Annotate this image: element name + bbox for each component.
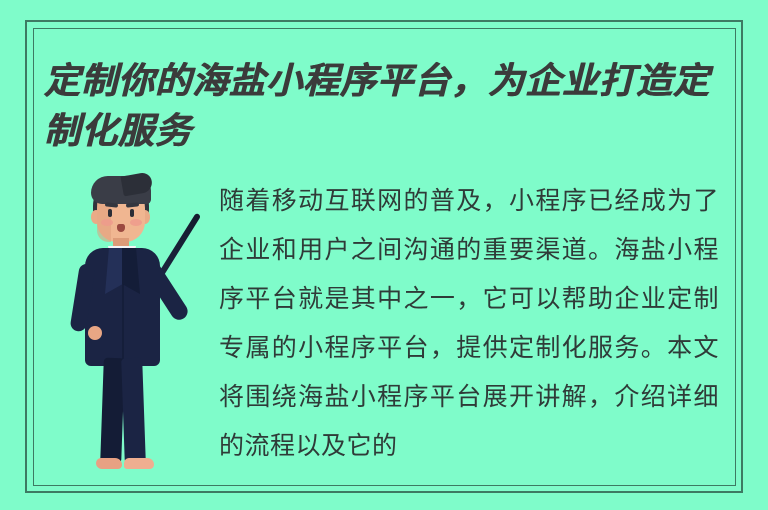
businessman-illustration <box>60 172 210 482</box>
cheek-left <box>101 219 113 226</box>
eye-left <box>108 209 112 217</box>
cheek-right <box>130 219 142 226</box>
shoe-left <box>96 458 122 469</box>
jacket-seam <box>122 284 124 364</box>
article-body-text: 随着移动互联网的普及，小程序已经成为了企业和用户之间沟通的重要渠道。海盐小程序平… <box>219 176 719 470</box>
left-hand <box>88 326 102 340</box>
leg-right <box>121 358 146 465</box>
shoe-right <box>124 458 154 469</box>
page-title: 定制你的海盐小程序平台，为企业打造定制化服务 <box>44 56 744 156</box>
mouth <box>117 224 125 232</box>
article-banner: 定制你的海盐小程序平台，为企业打造定制化服务 随着移动互联网的普及，小程序已经成… <box>0 0 768 510</box>
eye-right <box>130 209 134 217</box>
